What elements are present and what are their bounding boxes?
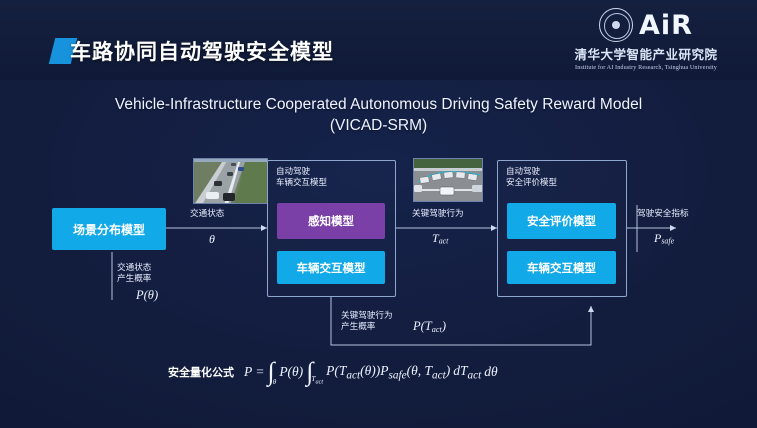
formula-term-2: P(Tact(θ))Psafe(θ, Tact) (326, 363, 450, 382)
edge-symbol-p-t-act-sub: act (432, 325, 442, 334)
formula-d1-main: dT (453, 363, 467, 378)
integral-2-limit-sub: act (315, 379, 323, 386)
edge-label-driving-safety-index: 驾驶安全指标 (637, 208, 689, 219)
diagram: 场景分布模型 自动驾驶 车辆交互模型 感知模型 车辆交互模型 自动驾驶 安全评价… (0, 0, 757, 428)
node-perception-model-label: 感知模型 (308, 213, 354, 229)
edge-symbol-t-act: Tact (432, 231, 448, 246)
safety-quantification-formula: 安全量化公式 P = ∫ θ P(θ) ∫ Tact P(Tact(θ))Psa… (168, 362, 498, 383)
edge-symbol-p-t-act-tail: ) (442, 319, 446, 333)
integral-1-limit: θ (273, 377, 277, 386)
formula-term-2c: (θ, T (407, 363, 432, 378)
formula-term-2b: (θ))P (360, 363, 388, 378)
group-safety-label: 自动驾驶 安全评价模型 (506, 166, 557, 188)
edge-symbol-p-theta: P(θ) (136, 288, 158, 303)
edge-symbol-p-safe-sub: safe (661, 237, 674, 246)
lane-change-trajectory-image (414, 159, 483, 202)
edge-label-traffic-state: 交通状态 (190, 208, 224, 219)
formula-term-2c-sub: act (432, 370, 446, 382)
edge-label-behavior-probability: 关键驾驶行为 产生概率 (341, 310, 393, 332)
formula-term-1: P(θ) (279, 364, 303, 380)
edge-symbol-p-t-act: P(Tact) (413, 319, 446, 334)
node-vehicle-interaction-model-2-label: 车辆交互模型 (527, 260, 596, 276)
node-vehicle-interaction-model-1[interactable]: 车辆交互模型 (277, 251, 385, 284)
integral-2-limit: Tact (311, 374, 323, 386)
formula-lhs: P = (244, 364, 265, 380)
node-safety-evaluation-model[interactable]: 安全评价模型 (507, 203, 616, 239)
formula-term-2b-sub: safe (389, 370, 407, 382)
node-scene-distribution-model-label: 场景分布模型 (73, 221, 145, 238)
formula-integral-2: ∫ Tact (306, 362, 323, 383)
node-vehicle-interaction-model-1-label: 车辆交互模型 (297, 260, 366, 276)
node-vehicle-interaction-model-2[interactable]: 车辆交互模型 (507, 251, 616, 284)
edge-symbol-t-act-main: T (432, 231, 439, 245)
edge-symbol-p-safe: Psafe (654, 231, 674, 246)
node-safety-evaluation-model-label: 安全评价模型 (527, 213, 596, 229)
edge-label-traffic-state-probability: 交通状态 产生概率 (117, 262, 151, 284)
lane-change-trajectory-photo (413, 158, 483, 202)
formula-label: 安全量化公式 (168, 364, 234, 380)
formula-term-2a-sub: act (346, 370, 360, 382)
formula-differential-2: dθ (484, 364, 497, 380)
formula-differential-1: dTact (453, 363, 481, 382)
formula-integral-1: ∫ θ (268, 362, 277, 383)
formula-d1-sub: act (468, 370, 482, 382)
node-perception-model[interactable]: 感知模型 (277, 203, 385, 239)
edge-label-key-driving-behavior: 关键驾驶行为 (412, 208, 464, 219)
group-interaction-label: 自动驾驶 车辆交互模型 (276, 166, 327, 188)
formula-term-2a: P(T (326, 363, 346, 378)
highway-traffic-image (194, 159, 268, 204)
edge-symbol-p-t-act-main: P(T (413, 319, 432, 333)
edge-symbol-t-act-sub: act (439, 237, 449, 246)
formula-expression: P = ∫ θ P(θ) ∫ Tact P(Tact(θ))Psafe(θ, T… (244, 362, 498, 383)
slide-canvas: 车路协同自动驾驶安全模型 AiR 清华大学智能产业研究院 Institute f… (0, 0, 757, 428)
edge-symbol-theta: θ (209, 232, 215, 247)
node-scene-distribution-model[interactable]: 场景分布模型 (52, 208, 166, 250)
highway-traffic-photo (193, 158, 268, 204)
formula-term-2d: ) (446, 363, 451, 378)
